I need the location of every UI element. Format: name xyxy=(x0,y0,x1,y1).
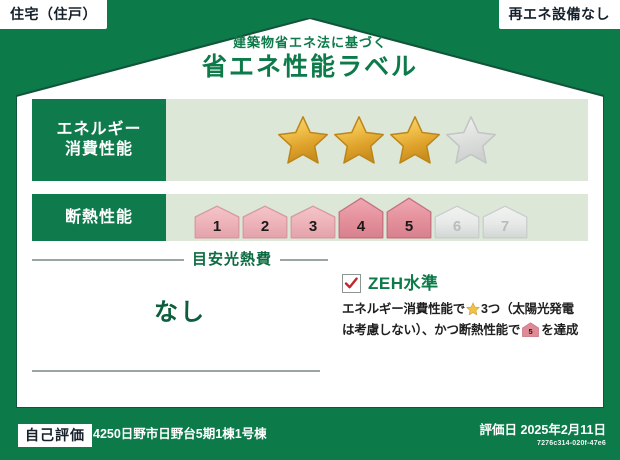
check-icon xyxy=(344,276,359,291)
energy-performance-row: エネルギー 消費性能 xyxy=(32,99,588,181)
zeh-desc-part2: 3つ（太陽光発電 xyxy=(481,302,574,316)
insulation-grade-1: 1 xyxy=(194,205,240,239)
self-assessment-badge: 自己評価 xyxy=(18,424,92,447)
insulation-grade-5: 5 xyxy=(386,197,432,239)
insulation-grade-number: 6 xyxy=(434,219,480,234)
evaluation-date: 評価日 2025年2月11日 xyxy=(480,424,606,437)
utility-cost-value: なし xyxy=(32,301,328,325)
utility-cost-title: 目安光熱費 xyxy=(192,252,272,267)
insulation-performance-row: 断熱性能 1234567 xyxy=(32,194,588,241)
evaluation-code: 7276c314-020f-47e6 xyxy=(537,440,606,447)
inline-star-icon xyxy=(466,302,480,321)
insulation-grade-3: 3 xyxy=(290,205,336,239)
insulation-grade-4: 4 xyxy=(338,197,384,239)
insulation-grade-6: 6 xyxy=(434,205,480,239)
zeh-desc-part4: を達成 xyxy=(541,323,578,337)
zeh-checkbox[interactable] xyxy=(342,274,361,293)
insulation-performance-value: 1234567 xyxy=(166,194,588,241)
insulation-grade-number: 4 xyxy=(338,219,384,234)
energy-performance-value xyxy=(166,99,588,181)
zeh-header: ZEH水準 xyxy=(342,274,588,293)
insulation-label: 断熱性能 xyxy=(65,208,133,228)
inline-grade-badge: 5 xyxy=(522,322,539,342)
zeh-title: ZEH水準 xyxy=(368,275,439,292)
divider-left xyxy=(32,259,184,261)
zeh-description: エネルギー消費性能で 3つ（太陽光発電 は考慮しない）、かつ断熱性能で 5 を達… xyxy=(342,300,588,342)
tag-building-type: 住宅（住戸） xyxy=(0,0,107,29)
utility-cost-bottom-divider xyxy=(32,370,320,372)
property-address: 4250日野市日野台5期1棟1号棟 xyxy=(93,428,267,441)
insulation-grade-number: 7 xyxy=(482,219,528,234)
star-icon-1 xyxy=(277,114,329,166)
title-subtitle: 建築物省エネ法に基づく xyxy=(0,36,620,49)
footer-bar: 自己評価 4250日野市日野台5期1棟1号棟 評価日 2025年2月11日 72… xyxy=(0,412,620,460)
zeh-desc-part3: は考慮しない）、かつ断熱性能で xyxy=(342,323,520,337)
insulation-grade-2: 2 xyxy=(242,205,288,239)
energy-performance-label-box: エネルギー 消費性能 xyxy=(32,99,166,181)
tag-renewable-energy: 再エネ設備なし xyxy=(499,0,620,29)
insulation-grade-number: 2 xyxy=(242,219,288,234)
utility-cost-header: 目安光熱費 xyxy=(32,250,328,267)
energy-performance-label: 住宅（住戸） 再エネ設備なし 建築物省エネ法に基づく 省エネ性能ラベル エネルギ… xyxy=(0,0,620,460)
energy-label-line1: エネルギー xyxy=(56,120,141,140)
energy-label-line2: 消費性能 xyxy=(65,140,133,160)
insulation-grade-number: 5 xyxy=(386,219,432,234)
inline-grade-badge-number: 5 xyxy=(529,327,533,336)
utility-cost-panel: 目安光熱費 なし xyxy=(32,250,328,402)
star-rating xyxy=(277,114,497,166)
insulation-grade-number: 3 xyxy=(290,219,336,234)
zeh-panel: ZEH水準 エネルギー消費性能で 3つ（太陽光発電 は考慮しない）、かつ断熱性能… xyxy=(328,250,588,402)
lower-section: 目安光熱費 なし ZEH水準 エネルギー消費性能で 3つ（太陽光発電 xyxy=(32,250,588,402)
divider-right xyxy=(280,259,328,261)
star-icon-2 xyxy=(333,114,385,166)
star-icon-4 xyxy=(445,114,497,166)
title-main: 省エネ性能ラベル xyxy=(0,55,620,80)
star-icon-3 xyxy=(389,114,441,166)
insulation-grade-scale: 1234567 xyxy=(194,197,528,239)
label-title-block: 建築物省エネ法に基づく 省エネ性能ラベル xyxy=(0,36,620,80)
zeh-desc-part1: エネルギー消費性能で xyxy=(342,302,465,316)
insulation-performance-label-box: 断熱性能 xyxy=(32,194,166,241)
insulation-grade-number: 1 xyxy=(194,219,240,234)
insulation-grade-7: 7 xyxy=(482,205,528,239)
